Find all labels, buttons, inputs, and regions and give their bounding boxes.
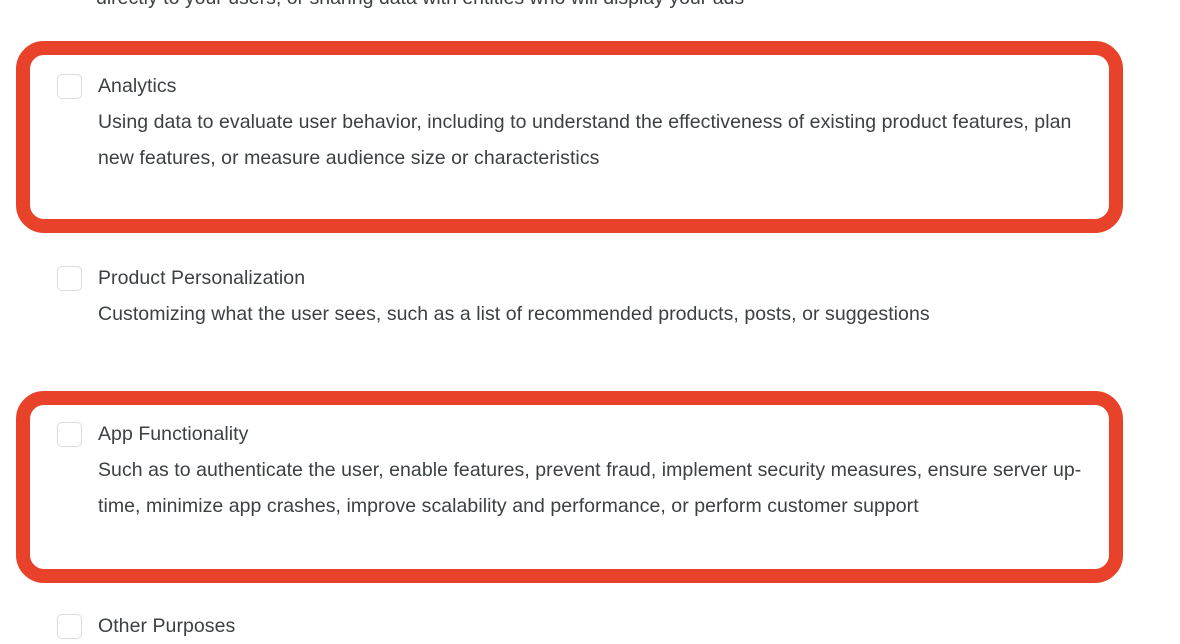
option-title-app-functionality: App Functionality — [98, 416, 1087, 452]
option-row-product-personalization[interactable]: Product Personalization Customizing what… — [57, 260, 1087, 332]
option-row-app-functionality[interactable]: App Functionality Such as to authenticat… — [57, 416, 1087, 524]
option-description-app-functionality: Such as to authenticate the user, enable… — [98, 452, 1087, 524]
option-description-product-personalization: Customizing what the user sees, such as … — [98, 296, 1087, 332]
option-row-analytics[interactable]: Analytics Using data to evaluate user be… — [57, 68, 1087, 176]
option-body-analytics: Analytics Using data to evaluate user be… — [98, 68, 1087, 176]
checkbox-analytics[interactable] — [57, 74, 82, 99]
clipped-previous-description: directly to your users, or sharing data … — [96, 0, 1106, 16]
option-title-product-personalization: Product Personalization — [98, 260, 1087, 296]
option-body-other-purposes: Other Purposes — [98, 608, 1087, 644]
option-title-other-purposes: Other Purposes — [98, 608, 1087, 644]
checkbox-other-purposes[interactable] — [57, 614, 82, 639]
option-body-product-personalization: Product Personalization Customizing what… — [98, 260, 1087, 332]
option-row-other-purposes[interactable]: Other Purposes — [57, 608, 1087, 644]
option-title-analytics: Analytics — [98, 68, 1087, 104]
privacy-purposes-form: directly to your users, or sharing data … — [0, 0, 1180, 638]
checkbox-app-functionality[interactable] — [57, 422, 82, 447]
option-description-analytics: Using data to evaluate user behavior, in… — [98, 104, 1087, 176]
option-body-app-functionality: App Functionality Such as to authenticat… — [98, 416, 1087, 524]
checkbox-product-personalization[interactable] — [57, 266, 82, 291]
